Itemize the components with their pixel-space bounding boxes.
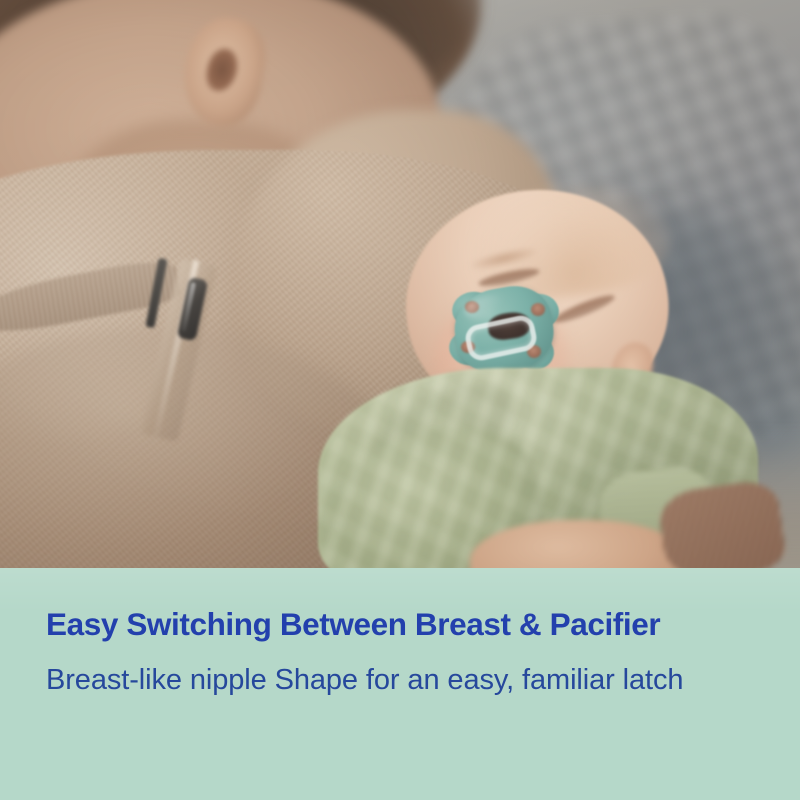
- feature-headline: Easy Switching Between Breast & Pacifier: [46, 606, 660, 643]
- lifestyle-photo: [0, 0, 800, 568]
- feature-description: Breast-like nipple Shape for an easy, fa…: [46, 658, 766, 702]
- product-feature-card: Easy Switching Between Breast & Pacifier…: [0, 0, 800, 800]
- pacifier-vent-hole-2: [531, 303, 545, 316]
- feature-text-panel: Easy Switching Between Breast & Pacifier…: [0, 568, 800, 800]
